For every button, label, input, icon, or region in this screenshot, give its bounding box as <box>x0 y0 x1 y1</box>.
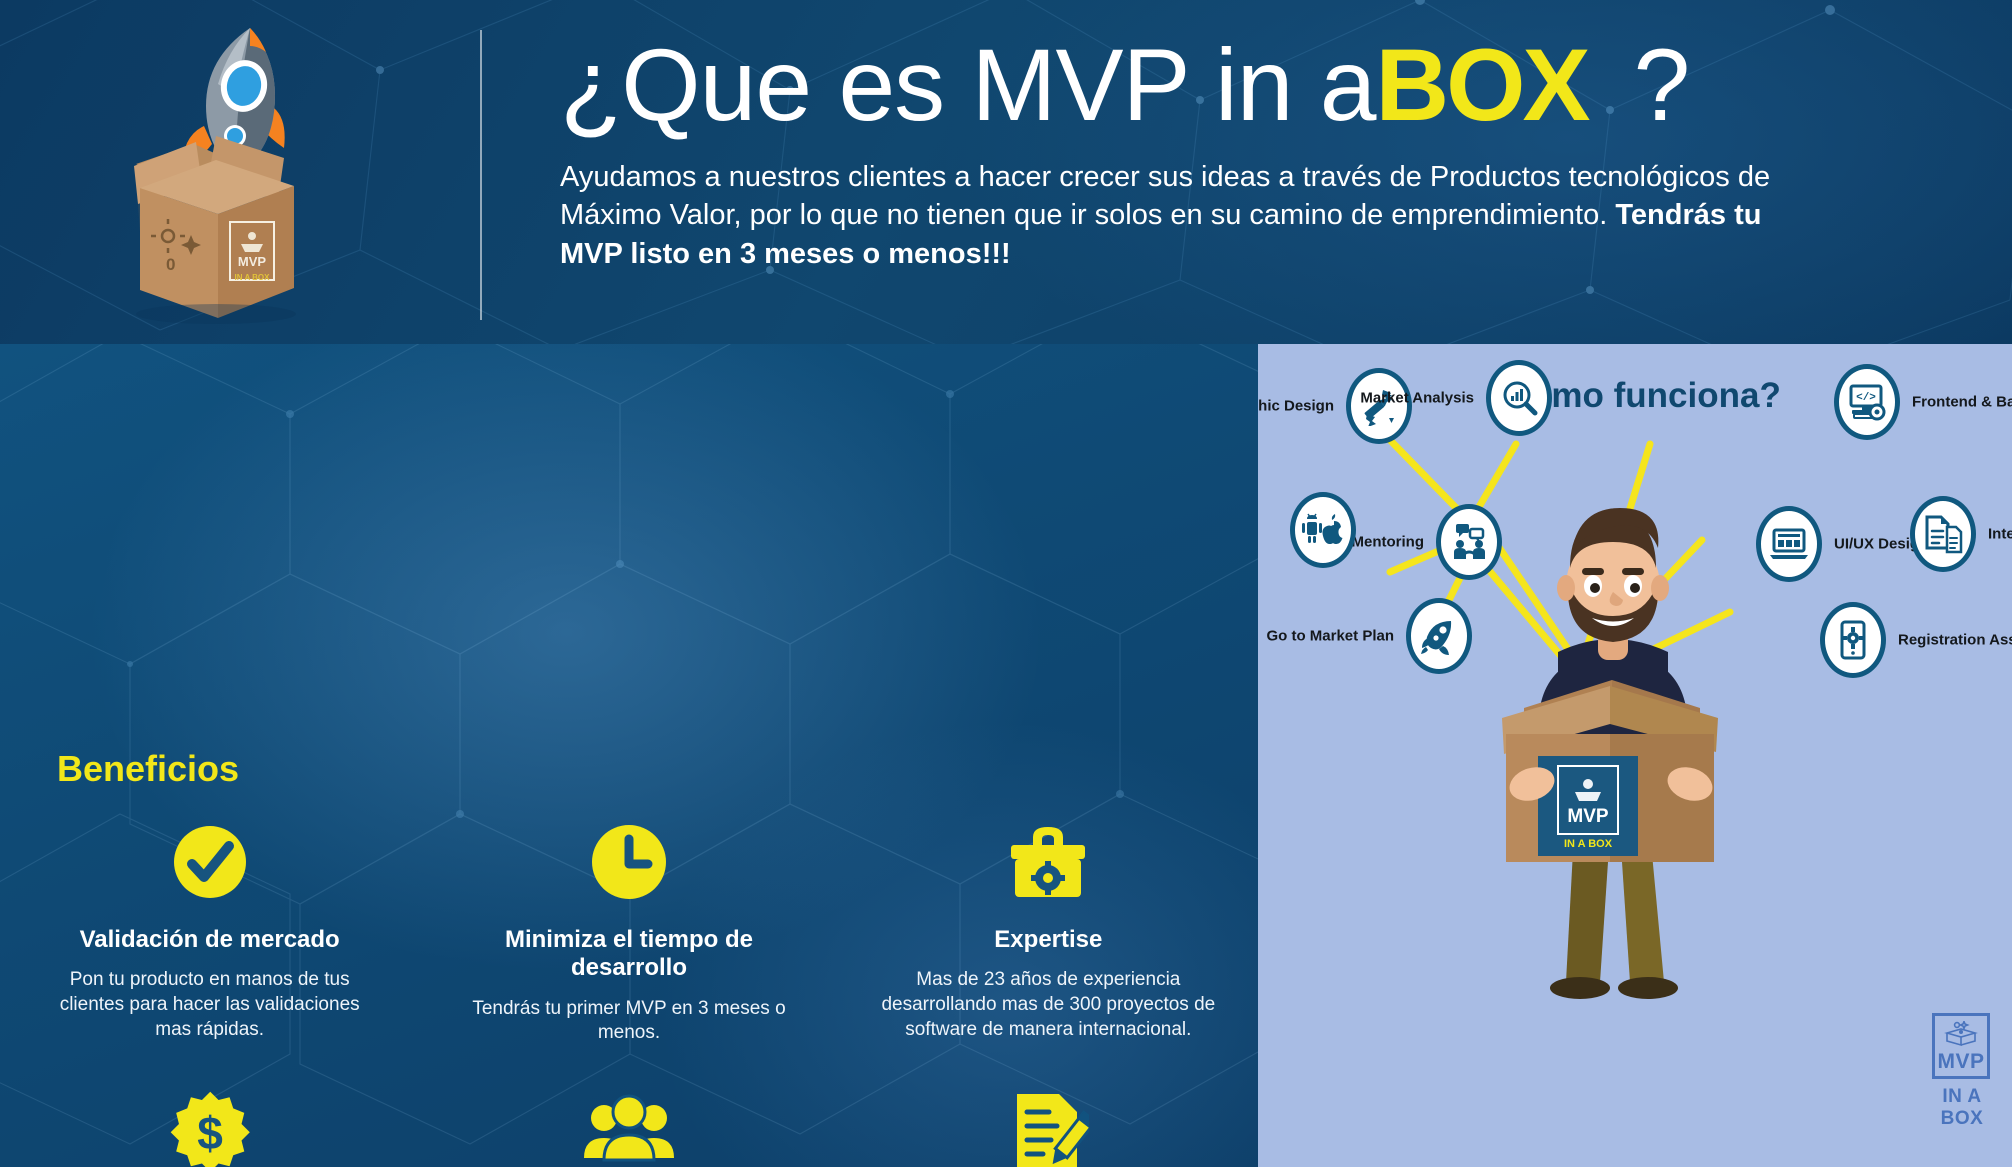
phone-gear-icon <box>1820 602 1886 678</box>
how-it-works-panel: ¿cómo funciona? <box>1258 344 2012 1167</box>
benefit-desc: Tendrás tu primer MVP en 3 meses o menos… <box>461 997 796 1046</box>
node-intellectual-mentoring[interactable]: Intellectual Mentoring <box>1910 496 1976 572</box>
benefits-grid: Validación de mercado Pon tu producto en… <box>0 814 1258 1167</box>
node-label: Go to Market Plan <box>1266 627 1394 644</box>
node-market-analysis[interactable]: Market Analysis <box>1486 360 1552 436</box>
node-registration-assistance[interactable]: Registration Assistance <box>1820 602 1886 678</box>
team-people-icon <box>461 1084 796 1167</box>
page-title-question-mark: ? <box>1634 28 1690 142</box>
node-label: Market Analysis <box>1360 389 1474 406</box>
node-mobile-platforms[interactable] <box>1290 492 1356 568</box>
benefit-card[interactable]: Construye tu propio equipo Como dueño de… <box>419 1084 838 1167</box>
check-circle-icon <box>42 814 377 910</box>
documents-icon <box>1910 496 1976 572</box>
node-label: Frontend & Backend <box>1912 393 2012 410</box>
page-title: ¿Que es MVP in aBOX? <box>560 34 1980 136</box>
toolbox-gear-icon <box>881 814 1216 910</box>
header-banner: MVP IN A BOX 0 ¿Que es MVP in aBOX? Ayud… <box>0 0 2012 344</box>
header-title-block: ¿Que es MVP in aBOX? Ayudamos a nuestros… <box>560 34 1980 273</box>
benefit-card[interactable]: Validación de mercado Pon tu producto en… <box>0 814 419 1046</box>
subtitle-line-3: emprendimiento. <box>1391 199 1615 231</box>
node-frontend-backend[interactable]: </> Frontend & Backend <box>1834 364 1900 440</box>
infographic-page: MVP IN A BOX 0 ¿Que es MVP in aBOX? Ayud… <box>0 0 2012 1167</box>
benefit-card[interactable]: $ Optimización de costos Nosotros haremo… <box>0 1084 419 1167</box>
header-subtitle: Ayudamos a nuestros clientes a hacer cre… <box>560 158 1790 273</box>
svg-text:$: $ <box>197 1107 223 1159</box>
node-label: Graphic Design <box>1258 397 1334 414</box>
benefit-card[interactable]: Minimiza el tiempo de desarrollo Tendrás… <box>419 814 838 1046</box>
page-title-plain: ¿Que es MVP in a <box>560 28 1376 142</box>
node-label: Registration Assistance <box>1898 631 2012 648</box>
benefit-title: Minimiza el tiempo de desarrollo <box>461 926 796 983</box>
document-pencil-icon <box>881 1084 1216 1167</box>
man-holding-box-illustration: MVP IN A BOX <box>1446 502 1776 1062</box>
benefit-title: Expertise <box>881 926 1216 954</box>
header-divider <box>480 30 482 320</box>
code-monitor-gear-icon: </> <box>1834 364 1900 440</box>
footer-logo-mvp: MVP <box>1937 1050 1984 1074</box>
footer-logo-box: MVP <box>1932 1013 1990 1079</box>
clock-icon <box>461 814 796 910</box>
benefit-desc: Pon tu producto en manos de tus clientes… <box>42 968 377 1042</box>
android-apple-icon <box>1290 492 1356 568</box>
benefit-card[interactable]: Tu eres el dueño Eres dueño de todo lo q… <box>839 1084 1258 1167</box>
open-box-sparkle-icon <box>1944 1021 1978 1047</box>
svg-text:IN A BOX: IN A BOX <box>235 273 271 282</box>
benefits-panel: Beneficios Validación de mercado Pon tu … <box>0 344 1258 1167</box>
svg-text:MVP: MVP <box>1567 806 1609 827</box>
benefit-card[interactable]: Expertise Mas de 23 años de experiencia … <box>839 814 1258 1046</box>
node-label: Intellectual Mentoring <box>1988 525 2012 542</box>
footer-logo-subtitle: IN A BOX <box>1921 1086 2003 1130</box>
svg-text:0: 0 <box>166 255 175 274</box>
node-label: Mentoring <box>1352 533 1425 550</box>
magnifier-chart-icon <box>1486 360 1552 436</box>
page-title-box: BOX <box>1376 28 1588 142</box>
dollar-badge-icon: $ <box>42 1084 377 1167</box>
benefit-title: Validación de mercado <box>42 926 377 954</box>
svg-text:IN A BOX: IN A BOX <box>1564 838 1613 850</box>
subtitle-line-1: Ayudamos a nuestros clientes a hacer cre… <box>560 161 1561 193</box>
svg-text:MVP: MVP <box>238 254 267 269</box>
svg-text:</>: </> <box>1856 392 1876 404</box>
benefit-desc: Mas de 23 años de experiencia desarrolla… <box>881 968 1216 1042</box>
rocket-in-box-icon: MVP IN A BOX 0 <box>98 18 338 328</box>
benefits-section-title: Beneficios <box>57 748 239 790</box>
